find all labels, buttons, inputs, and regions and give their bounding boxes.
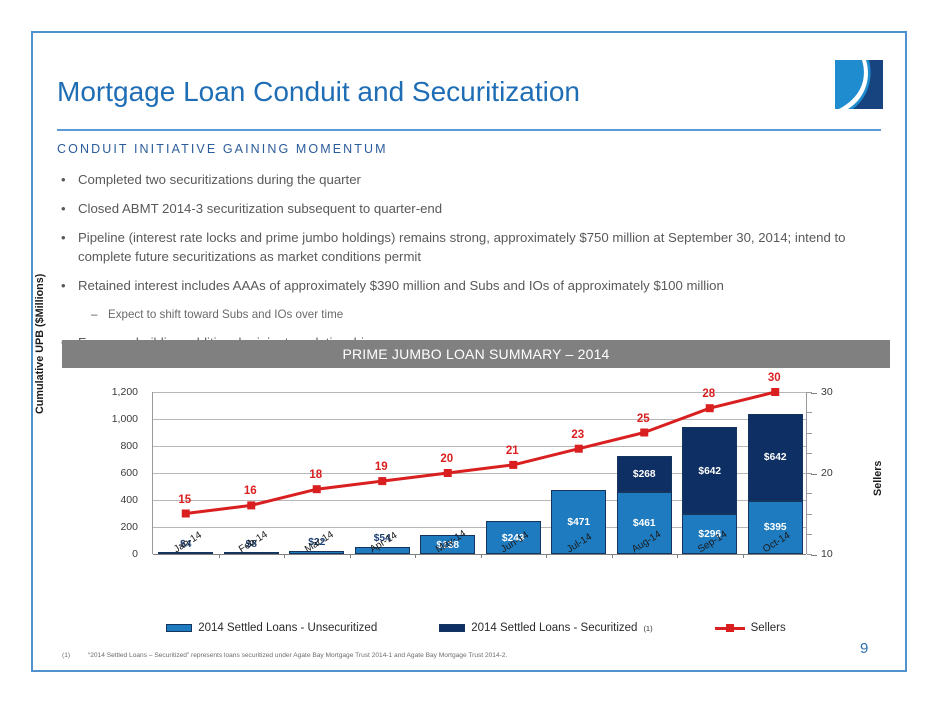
y-axis-tick-label: 200 [92,521,138,533]
bullet-marker: • [61,228,66,247]
line-value-label: 28 [702,388,715,400]
bullet-marker: • [61,276,66,295]
secondary-axis-minor-tick [807,453,812,454]
plot-area: $4$8$22$54$138$243$471$461$268$296$642$3… [152,392,807,554]
secondary-y-axis-tick-label: 20 [821,467,861,479]
x-axis-tick [481,554,482,558]
bar-column[interactable]: $471 [546,392,612,554]
bar-column[interactable]: $243 [481,392,547,554]
bar-column[interactable]: $8 [219,392,285,554]
line-value-label: 25 [637,413,650,425]
y-axis-label: Cumulative UPB ($Millions) [34,274,46,414]
bullet-text: Completed two securitizations during the… [78,172,361,187]
bullet-item: • Pipeline (interest rate locks and prim… [57,228,887,266]
legend-swatch-securitized [439,624,465,632]
x-axis-tick [743,554,744,558]
bar-unsecuritized[interactable] [158,552,213,554]
chart-banner: PRIME JUMBO LOAN SUMMARY – 2014 [62,340,890,368]
title-divider [57,129,881,131]
y-axis-tick-label: 400 [92,494,138,506]
y-axis-tick-label: 0 [92,548,138,560]
x-axis-tick [415,554,416,558]
bar-unsecuritized[interactable] [289,551,344,554]
x-axis-tick [284,554,285,558]
page-title: Mortgage Loan Conduit and Securitization [57,76,580,108]
bar-column[interactable]: $138 [415,392,481,554]
line-value-label: 23 [571,429,584,441]
company-logo-icon [833,58,885,111]
gridline [153,554,806,555]
footnote-text: “2014 Settled Loans – Securitized” repre… [88,652,507,659]
line-value-label: 18 [309,469,322,481]
bullet-item: • Closed ABMT 2014-3 securitization subs… [57,199,887,218]
secondary-axis-minor-tick [807,514,812,515]
secondary-axis-minor-tick [807,493,812,494]
bullet-item: • Retained interest includes AAAs of app… [57,276,887,295]
secondary-axis-minor-tick [807,554,812,555]
legend-item-securitized: 2014 Settled Loans - Securitized(1) [439,622,652,634]
bar-securitized[interactable] [617,456,672,492]
x-axis-tick [677,554,678,558]
bar-column[interactable]: $296$642 [677,392,743,554]
y-axis-tick-label: 1,200 [92,386,138,398]
secondary-axis-minor-tick [807,534,812,535]
bullet-item: • Completed two securitizations during t… [57,170,887,189]
legend-label-securitized: 2014 Settled Loans - Securitized [471,622,637,634]
x-axis-tick [546,554,547,558]
secondary-axis-minor-tick [807,412,812,413]
chart: Cumulative UPB ($Millions) Sellers $4$8$… [62,378,890,648]
legend-swatch-sellers [715,623,745,633]
bar-column[interactable]: $4 [153,392,219,554]
bullet-text: Pipeline (interest rate locks and prime … [78,230,845,264]
footnote: (1)“2014 Settled Loans – Securitized” re… [62,652,507,659]
bullet-text: Expect to shift toward Subs and IOs over… [108,308,343,321]
legend-item-sellers: Sellers [715,622,786,634]
bullet-text: Retained interest includes AAAs of appro… [78,278,724,293]
line-value-label: 21 [506,445,519,457]
line-value-label: 19 [375,461,388,473]
page-number: 9 [860,640,868,657]
line-value-label: 30 [768,372,781,384]
x-axis-tick [350,554,351,558]
bullet-marker: • [61,170,66,189]
bullet-text: Closed ABMT 2014-3 securitization subseq… [78,201,442,216]
section-subtitle: CONDUIT INITIATIVE GAINING MOMENTUM [57,142,388,156]
legend-label-unsecuritized: 2014 Settled Loans - Unsecuritized [198,622,377,634]
bar-unsecuritized[interactable] [224,552,279,554]
bar-securitized[interactable] [748,414,803,501]
bullet-marker: • [61,199,66,218]
secondary-axis-minor-tick [807,392,812,393]
secondary-y-axis-tick-label: 30 [821,386,861,398]
y-axis-tick-label: 800 [92,440,138,452]
x-axis-tick [612,554,613,558]
footnote-number: (1) [62,652,88,659]
secondary-y-axis-tick-label: 10 [821,548,861,560]
chart-legend: 2014 Settled Loans - Unsecuritized 2014 … [62,622,890,634]
bar-securitized[interactable] [682,427,737,514]
bullet-marker: – [91,305,97,324]
legend-item-unsecuritized: 2014 Settled Loans - Unsecuritized [166,622,377,634]
slide: Mortgage Loan Conduit and Securitization… [0,0,940,705]
legend-footnote-ref: (1) [643,624,652,633]
legend-label-sellers: Sellers [751,622,786,634]
secondary-axis-minor-tick [807,473,812,474]
bullet-subitem: – Expect to shift toward Subs and IOs ov… [57,305,887,324]
y-axis-tick-label: 600 [92,467,138,479]
bullet-list: • Completed two securitizations during t… [57,170,887,362]
line-value-label: 20 [440,453,453,465]
line-value-label: 15 [178,494,191,506]
x-axis-tick [219,554,220,558]
legend-swatch-unsecuritized [166,624,192,632]
secondary-axis-minor-tick [807,433,812,434]
bar-column[interactable]: $395$642 [743,392,809,554]
y-axis-tick-label: 1,000 [92,413,138,425]
line-value-label: 16 [244,485,257,497]
secondary-y-axis-label: Sellers [872,461,884,496]
